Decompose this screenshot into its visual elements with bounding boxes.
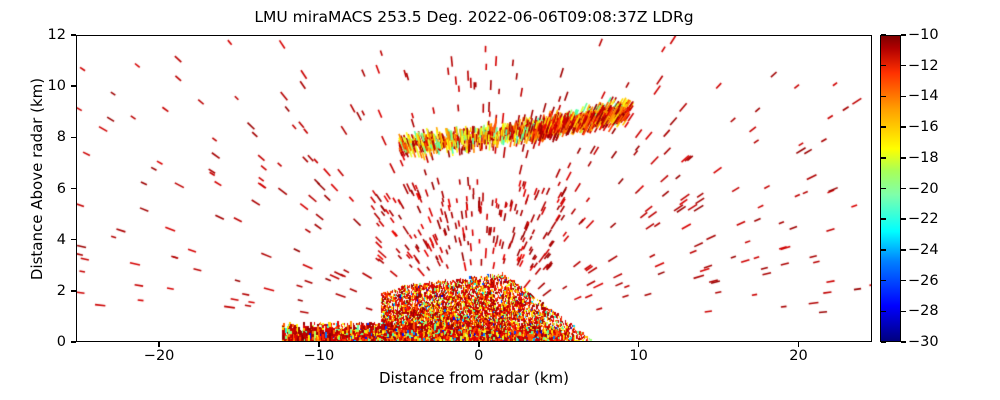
colorbar-tick-mark-inner xyxy=(881,188,886,190)
x-tick-mark xyxy=(158,342,160,347)
plot-area xyxy=(76,35,872,342)
y-tick-mark xyxy=(71,34,76,36)
x-tick-label: −20 xyxy=(144,348,175,364)
colorbar-tick-mark-inner xyxy=(881,311,886,313)
y-tick-mark xyxy=(71,85,76,87)
colorbar-tick-label: −22 xyxy=(908,211,939,227)
colorbar-tick-label: −10 xyxy=(908,27,939,43)
colorbar-tick-mark xyxy=(901,280,906,282)
colorbar-tick-mark xyxy=(901,249,906,251)
colorbar-tick-label: −24 xyxy=(908,242,939,258)
y-tick-label: 2 xyxy=(57,283,66,299)
colorbar-tick-mark xyxy=(901,341,906,343)
x-tick-label: 10 xyxy=(629,348,647,364)
colorbar-tick-mark xyxy=(901,188,906,190)
y-tick-mark xyxy=(71,341,76,343)
colorbar-tick-label: −26 xyxy=(908,273,939,289)
y-tick-mark xyxy=(71,137,76,139)
y-tick-label: 0 xyxy=(57,334,66,350)
y-tick-label: 12 xyxy=(48,27,66,43)
x-tick-mark xyxy=(798,342,800,347)
colorbar-tick-label: −14 xyxy=(908,88,939,104)
colorbar-tick-label: −18 xyxy=(908,150,939,166)
colorbar-tick-mark xyxy=(901,34,906,36)
radar-rhi-figure: LMU miraMACS 253.5 Deg. 2022-06-06T09:08… xyxy=(0,0,1000,400)
y-tick-label: 4 xyxy=(57,232,66,248)
colorbar-tick-label: −16 xyxy=(908,119,939,135)
y-tick-mark xyxy=(71,239,76,241)
colorbar-tick-mark xyxy=(901,311,906,313)
y-axis-label: Distance Above radar (km) xyxy=(28,19,46,339)
colorbar-tick-mark xyxy=(901,126,906,128)
y-tick-label: 8 xyxy=(57,129,66,145)
x-tick-mark xyxy=(638,342,640,347)
y-tick-label: 6 xyxy=(57,181,66,197)
scatter-canvas xyxy=(77,36,872,342)
y-tick-label: 10 xyxy=(48,78,66,94)
x-tick-label: 20 xyxy=(789,348,807,364)
colorbar-tick-label: −12 xyxy=(908,58,939,74)
colorbar-tick-mark-inner xyxy=(881,157,886,159)
colorbar-tick-mark-inner xyxy=(881,65,886,67)
colorbar-tick-label: −28 xyxy=(908,303,939,319)
x-axis-label: Distance from radar (km) xyxy=(76,369,872,387)
y-tick-mark xyxy=(71,290,76,292)
chart-title: LMU miraMACS 253.5 Deg. 2022-06-06T09:08… xyxy=(0,8,948,26)
colorbar-tick-mark-inner xyxy=(881,280,886,282)
colorbar-tick-mark xyxy=(901,218,906,220)
colorbar-tick-mark xyxy=(901,65,906,67)
colorbar-tick-mark-inner xyxy=(881,249,886,251)
colorbar-tick-mark-inner xyxy=(881,96,886,98)
x-tick-mark xyxy=(478,342,480,347)
x-tick-label: −10 xyxy=(304,348,335,364)
colorbar-tick-mark-inner xyxy=(881,218,886,220)
colorbar-tick-mark-inner xyxy=(881,126,886,128)
y-tick-mark xyxy=(71,188,76,190)
x-tick-label: 0 xyxy=(474,348,483,364)
colorbar-tick-mark xyxy=(901,157,906,159)
colorbar-tick-label: −30 xyxy=(908,334,939,350)
colorbar-tick-mark xyxy=(901,96,906,98)
colorbar-tick-label: −20 xyxy=(908,181,939,197)
x-tick-mark xyxy=(318,342,320,347)
colorbar-tick-mark-inner xyxy=(881,341,886,343)
colorbar-tick-mark-inner xyxy=(881,34,886,36)
